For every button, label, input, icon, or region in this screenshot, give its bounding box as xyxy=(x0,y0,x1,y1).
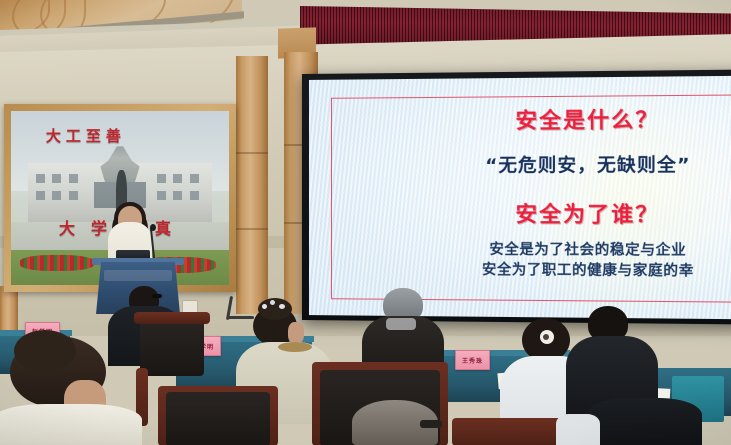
slide-text-block: 安全是什么？ “无危则安，无缺则全” 安全为了谁？ 安全是为了社会的稳定与企业 … xyxy=(427,103,731,281)
front-right-shirt xyxy=(556,414,600,445)
flower-clip-center xyxy=(543,334,549,340)
chair-back-center xyxy=(140,318,204,376)
woman-face xyxy=(288,322,304,344)
slide-body-line-1: 安全是为了社会的稳定与企业 xyxy=(427,238,731,260)
chair-frame-center xyxy=(134,312,210,324)
slide-body-line-2: 安全为了职工的健康与家庭的幸 xyxy=(427,258,731,280)
wall-art-caption-top: 大工至善 xyxy=(46,125,126,146)
slide-heading-1: 安全是什么？ xyxy=(427,103,731,136)
projection-screen: 安全是什么？ “无危则安，无缺则全” 安全为了谁？ 安全是为了社会的稳定与企业 … xyxy=(302,70,731,325)
wall-column-left xyxy=(236,56,268,314)
name-card-3: 王秀珠 xyxy=(455,350,490,370)
name-card-3-text: 王秀珠 xyxy=(462,356,483,365)
necklace xyxy=(278,342,312,352)
microphone-head xyxy=(150,224,156,231)
floor-cable xyxy=(228,316,254,319)
hair-ornament-3 xyxy=(279,304,285,309)
hair-ornament-1 xyxy=(262,304,267,309)
hair-ornament-2 xyxy=(270,300,275,305)
eyeglasses-temple xyxy=(152,294,162,298)
shirt-collar xyxy=(386,318,416,330)
slide-heading-2: 安全为了谁？ xyxy=(427,198,731,229)
lecture-hall-photo: 大工至善 大学至真 安全是什么？ “无危则安，无缺则全” 安全为了谁？ 安全是为… xyxy=(0,0,731,445)
podium-nameplate xyxy=(104,270,172,281)
projection-screen-surface: 安全是什么？ “无危则安，无缺则全” 安全为了谁？ 安全是为了社会的稳定与企业 … xyxy=(309,76,731,319)
eyeglasses-front xyxy=(420,420,442,428)
chair-back-front-left xyxy=(166,392,270,445)
slide-quote: “无危则安，无缺则全” xyxy=(427,150,731,177)
photo-flowerbed-left xyxy=(20,255,94,271)
